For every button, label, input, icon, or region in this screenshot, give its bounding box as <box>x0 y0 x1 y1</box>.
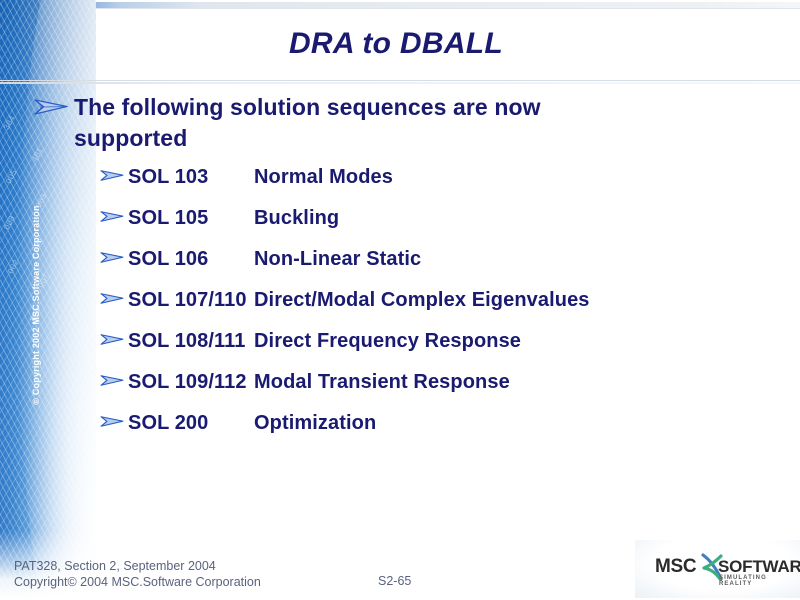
sol-code: SOL 108/111 <box>128 328 254 354</box>
slide-body: The following solution sequences are now… <box>0 92 800 522</box>
sub-bullet-row: SOL 105Buckling <box>100 197 800 238</box>
sub-bullet-text: SOL 109/112Modal Transient Response <box>128 369 510 395</box>
sol-code: SOL 103 <box>128 164 254 190</box>
main-bullet-text: The following solution sequences are now… <box>74 92 654 154</box>
header-divider <box>0 80 800 81</box>
sol-description: Optimization <box>254 410 376 436</box>
header-divider-shadow <box>0 82 800 84</box>
sub-bullet-row: SOL 109/112Modal Transient Response <box>100 361 800 402</box>
sol-description: Buckling <box>254 205 339 231</box>
sub-bullet-row: SOL 103Normal Modes <box>100 156 800 197</box>
sub-bullet-text: SOL 108/111Direct Frequency Response <box>128 328 521 354</box>
sol-code: SOL 200 <box>128 410 254 436</box>
main-bullet-row: The following solution sequences are now… <box>34 92 800 154</box>
logo-software-text: SOFTWARE. <box>718 557 800 577</box>
dart-bullet-icon <box>34 92 74 123</box>
dart-bullet-icon <box>100 248 128 270</box>
footer-line-copyright: Copyright© 2004 MSC.Software Corporation <box>14 574 261 590</box>
dart-bullet-icon <box>100 289 128 311</box>
sub-bullet-text: SOL 107/110Direct/Modal Complex Eigenval… <box>128 287 590 313</box>
dart-bullet-icon <box>100 207 128 229</box>
sol-description: Direct/Modal Complex Eigenvalues <box>254 287 590 313</box>
footer-line-course: PAT328, Section 2, September 2004 <box>14 558 261 574</box>
footer-credit-block: PAT328, Section 2, September 2004 Copyri… <box>14 558 261 590</box>
sub-bullet-row: SOL 108/111Direct Frequency Response <box>100 320 800 361</box>
page-number: S2-65 <box>378 574 411 588</box>
sol-description: Modal Transient Response <box>254 369 510 395</box>
sol-code: SOL 105 <box>128 205 254 231</box>
sub-bullet-text: SOL 106Non-Linear Static <box>128 246 421 272</box>
sub-bullet-text: SOL 200Optimization <box>128 410 376 436</box>
slide-title: DRA to DBALL <box>96 24 696 64</box>
logo-msc-text: MSC <box>655 556 696 578</box>
dart-bullet-icon <box>100 166 128 188</box>
sub-bullet-row: SOL 107/110Direct/Modal Complex Eigenval… <box>100 279 800 320</box>
sol-description: Direct Frequency Response <box>254 328 521 354</box>
top-accent-line <box>0 8 800 9</box>
sol-code: SOL 109/112 <box>128 369 254 395</box>
sub-bullet-text: SOL 105Buckling <box>128 205 339 231</box>
sol-code: SOL 106 <box>128 246 254 272</box>
sol-code: SOL 107/110 <box>128 287 254 313</box>
sol-description: Non-Linear Static <box>254 246 421 272</box>
sub-bullet-row: SOL 200Optimization <box>100 402 800 443</box>
sub-bullet-text: SOL 103Normal Modes <box>128 164 393 190</box>
msc-software-logo: MSC SOFTWARE. SIMULATING REALITY <box>655 548 789 588</box>
slide-canvas: 384 005 008 481 003 006 007 884 002 © Co… <box>0 0 800 600</box>
dart-bullet-icon <box>100 371 128 393</box>
sub-bullet-row: SOL 106Non-Linear Static <box>100 238 800 279</box>
dart-bullet-icon <box>100 412 128 434</box>
sol-description: Normal Modes <box>254 164 393 190</box>
dart-bullet-icon <box>100 330 128 352</box>
logo-tagline: SIMULATING REALITY <box>719 575 789 587</box>
